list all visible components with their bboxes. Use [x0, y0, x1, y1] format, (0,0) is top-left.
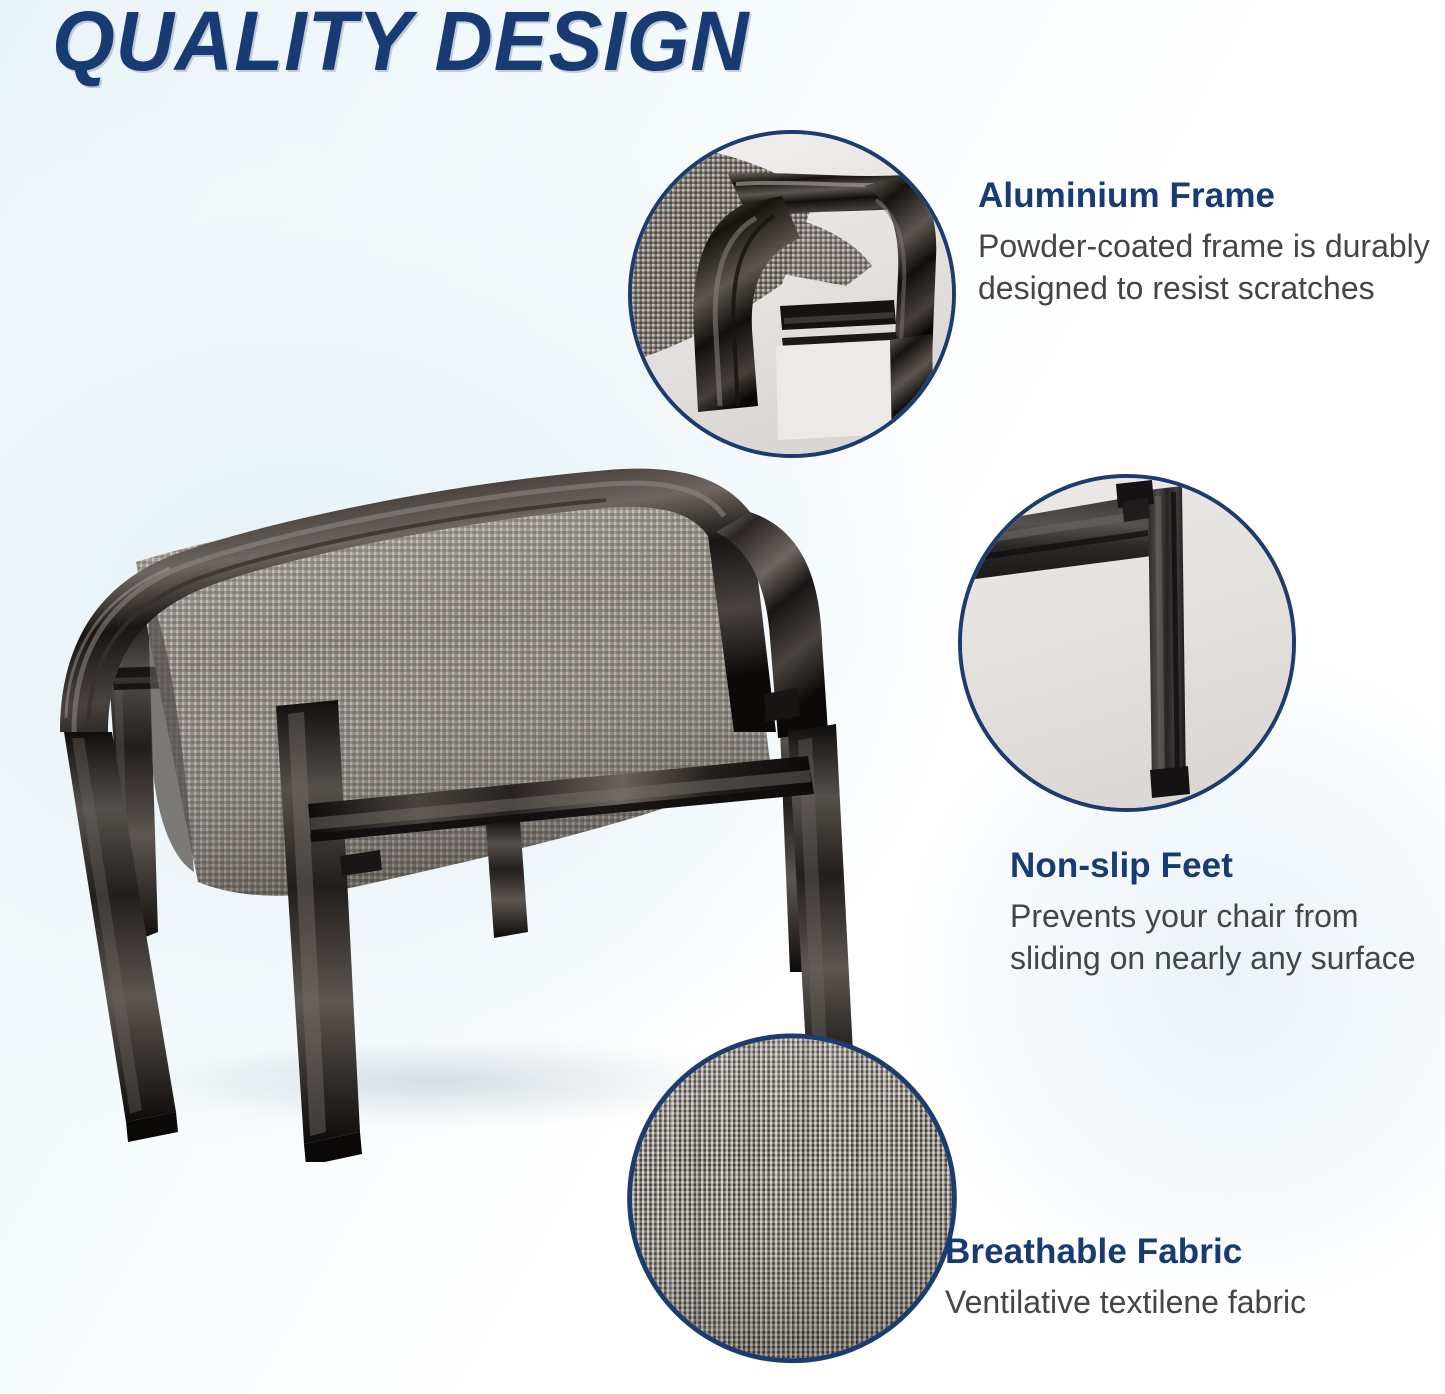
- feature-title: Breathable Fabric: [945, 1232, 1445, 1272]
- feature-description: Prevents your chair from sliding on near…: [1010, 896, 1444, 979]
- feature-block-aluminium-frame: Aluminium Frame Powder-coated frame is d…: [978, 176, 1440, 309]
- feature-title: Non-slip Feet: [1010, 846, 1444, 886]
- feature-block-breathable-fabric: Breathable Fabric Ventilative textilene …: [945, 1232, 1445, 1324]
- callout-circle-breathable-fabric: [627, 1034, 957, 1364]
- feature-description: Powder-coated frame is durably designed …: [978, 226, 1440, 309]
- feature-block-non-slip-feet: Non-slip Feet Prevents your chair from s…: [1010, 846, 1444, 979]
- callout-circle-aluminium-frame: [628, 130, 956, 458]
- callout-circle-non-slip-feet: [958, 474, 1296, 812]
- feature-description: Ventilative textilene fabric: [945, 1282, 1445, 1324]
- feature-title: Aluminium Frame: [978, 176, 1440, 216]
- page-title: QUALITY DESIGN: [52, 0, 749, 87]
- infographic-page: QUALITY DESIGN: [0, 0, 1445, 1394]
